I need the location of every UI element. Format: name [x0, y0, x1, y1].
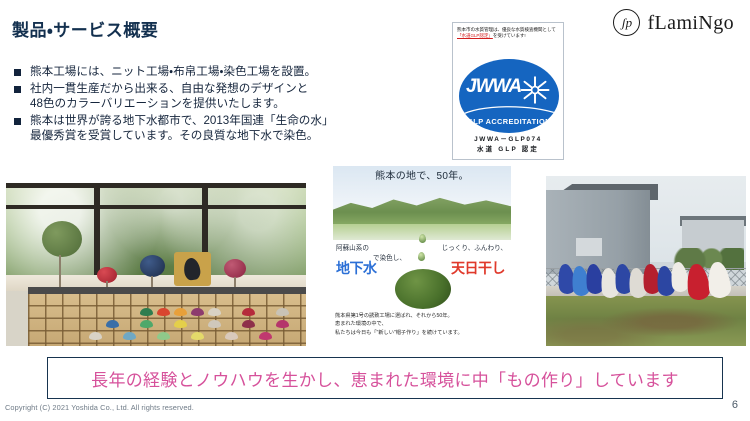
square-bullet-icon [14, 86, 21, 93]
green-topiary-hat [42, 221, 82, 257]
shelf-hat [259, 332, 272, 340]
sundry-caption: じっくり、ふんわり、 [442, 242, 507, 252]
footer-copyright: Copyright (C) 2021 Yoshida Co., Ltd. All… [5, 403, 194, 412]
cushion-with-motif [174, 252, 211, 286]
shelf-hat [106, 320, 119, 328]
page-title: 製品・サービス概要 [12, 16, 158, 41]
window-rail [6, 205, 306, 209]
hat-shelving-unit [28, 294, 306, 346]
shelf-hat [276, 308, 289, 316]
shelf-hat [191, 308, 204, 316]
flamingo-monogram-icon: ʃp [613, 9, 640, 36]
wall-panel [576, 238, 602, 256]
list-item-label: 熊本は世界が誇る地下水都市で、2013年国連「生命の水」 最優秀賞を受賞していま… [30, 113, 334, 144]
brand-logo: ʃp fLamiNgo [613, 9, 734, 36]
list-item-label: 熊本工場には、ニット工場・布帛工場・染色工場を設置。 [30, 64, 316, 80]
shelf-hat [140, 320, 153, 328]
mossy-hat-product [395, 269, 451, 309]
shelf-hat [242, 320, 255, 328]
shelf-hat [157, 308, 170, 316]
kumamoto-50years-infographic: 熊本の地で、50年。 阿蘇山系の で染色し、 地下水 じっくり、ふんわり、 天日… [333, 166, 511, 346]
highlight-banner-text: 長年の経験とノウハウを生かし、恵まれた環境に中「もの作り」しています [91, 366, 679, 391]
shelf-hat [208, 320, 221, 328]
jwwa-code: JWWA－GLP074 [453, 134, 563, 143]
display-hat-pink [224, 259, 246, 278]
list-item: 熊本工場には、ニット工場・布帛工場・染色工場を設置。 [14, 64, 444, 80]
water-drop-icon [419, 234, 426, 243]
shelf-hat [242, 308, 255, 316]
counter-top [28, 287, 306, 294]
window-mullion [94, 183, 100, 281]
groundwater-suffix: で染色し、 [373, 252, 406, 262]
jwwa-caption-highlight: 「水道GLP認定」 [457, 33, 493, 38]
jwwa-code-japanese: 水道 GLP 認定 [453, 144, 563, 153]
display-hat-navy [140, 255, 165, 277]
shelf-hat [174, 308, 187, 316]
jwwa-caption-line1: 熊本市の水質管理は、優良な水質検 [457, 27, 529, 32]
square-bullet-icon [14, 118, 21, 125]
factory-building [546, 190, 650, 274]
jwwa-emblem-label: JWWA [466, 77, 521, 96]
groundwater-keyword: 地下水 [336, 258, 377, 278]
jwwa-caption-line2-pre: 査機関として [529, 27, 556, 32]
jwwa-accreditation-label: GLP ACCREDITATION [459, 117, 559, 126]
window-frame-top [6, 183, 306, 188]
jwwa-certification-badge: 熊本市の水質管理は、優良な水質検査機関として「水道GLP認定」を受けています! … [452, 22, 564, 160]
shelf-hat [174, 320, 187, 328]
jwwa-emblem: JWWA GLP ACCREDITATION [459, 59, 559, 133]
shelf-hat [208, 308, 221, 316]
lawn-patches [546, 296, 746, 346]
shelf-hat [123, 332, 136, 340]
showroom-hat-display-photo [6, 183, 306, 346]
shelf-hat [157, 332, 170, 340]
water-burst-icon [520, 75, 550, 105]
monogram-glyph: ʃp [614, 10, 639, 35]
jwwa-caption-line2-post: を受け [493, 33, 506, 38]
highlight-banner: 長年の経験とノウハウを生かし、恵まれた環境に中「もの作り」しています [47, 357, 723, 399]
shelf-hat [89, 332, 102, 340]
jwwa-caption: 熊本市の水質管理は、優良な水質検査機関として「水道GLP認定」を受けています! [453, 23, 563, 39]
sundry-keyword: 天日干し [451, 258, 505, 278]
shelf-hat [225, 332, 238, 340]
infographic-footnote: 熊本県第1号の誘致工場に選ばれ、それから50年。 恵まれた環境の中で、 私たちは… [335, 312, 509, 337]
list-item-label: 社内一貫生産だから出来る、自由な発想のデザインと 48色のカラーバリエーションを… [30, 81, 308, 112]
shelf-hat [191, 332, 204, 340]
brand-wordmark: fLamiNgo [647, 13, 734, 33]
infographic-headline: 熊本の地で、50年。 [333, 167, 511, 182]
list-item: 社内一貫生産だから出来る、自由な発想のデザインと 48色のカラーバリエーションを… [14, 81, 444, 112]
bullet-list: 熊本工場には、ニット工場・布帛工場・染色工場を設置。 社内一貫生産だから出来る、… [14, 64, 444, 145]
shelf-hat [276, 320, 289, 328]
square-bullet-icon [14, 69, 21, 76]
water-drop-icon [418, 252, 425, 261]
outdoor-hat-drying-photo [546, 176, 746, 346]
page-number: 6 [732, 399, 738, 411]
shelf-hat [140, 308, 153, 316]
groundwater-caption: 阿蘇山系の [336, 242, 369, 252]
list-item: 熊本は世界が誇る地下水都市で、2013年国連「生命の水」 最優秀賞を受賞していま… [14, 113, 444, 144]
animal-motif-icon [183, 257, 202, 281]
jwwa-caption-line3: ています! [506, 33, 525, 38]
